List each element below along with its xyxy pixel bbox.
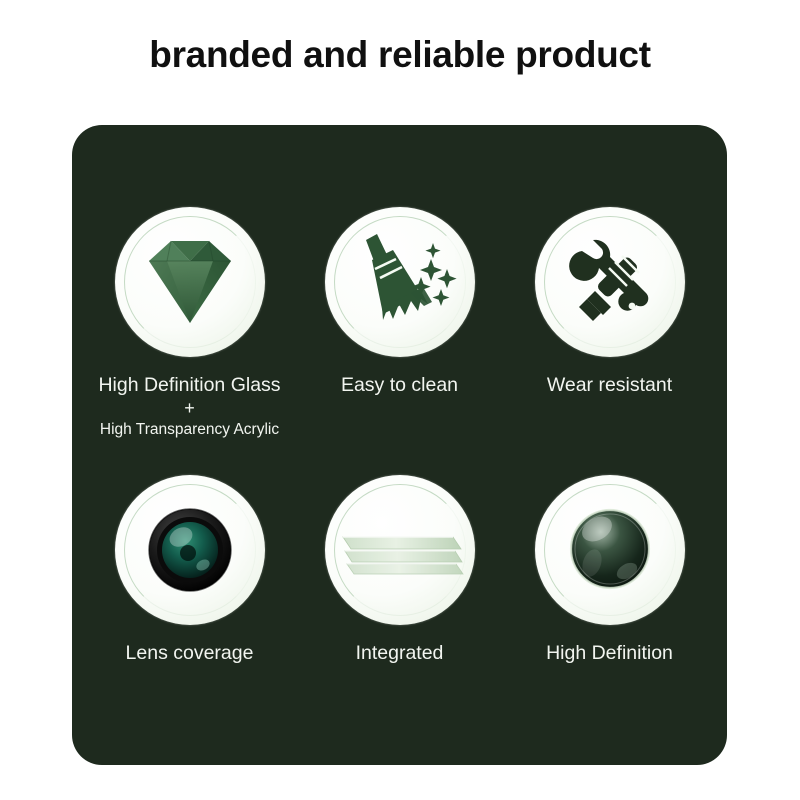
feature-label: Wear resistant <box>512 374 707 397</box>
feature-label-line1: High Definition Glass <box>98 374 280 396</box>
feature-icon-circle <box>325 207 475 357</box>
feature-label: High Definition Glass + High Transparenc… <box>92 374 287 439</box>
feature-label: High Definition <box>512 642 707 665</box>
feature-label: Lens coverage <box>92 642 287 665</box>
feature-label-line1: Wear resistant <box>547 374 672 396</box>
feature-card-lens-coverage[interactable]: Lens coverage <box>92 475 287 665</box>
feature-icon-circle <box>115 475 265 625</box>
features-grid: High Definition Glass + High Transparenc… <box>72 125 727 765</box>
feature-label-line1: Easy to clean <box>341 374 458 396</box>
features-panel: High Definition Glass + High Transparenc… <box>72 125 727 765</box>
feature-label-line1: Lens coverage <box>126 642 254 664</box>
broom-sparkle-icon <box>325 207 475 357</box>
feature-card-high-definition[interactable]: High Definition <box>512 475 707 665</box>
feature-label-line3: High Transparency Acrylic <box>92 420 287 439</box>
diamond-icon <box>115 207 265 357</box>
feature-card-integrated[interactable]: Integrated <box>302 475 497 665</box>
feature-icon-circle <box>115 207 265 357</box>
feature-label-line2: + <box>92 397 287 420</box>
feature-label: Integrated <box>302 642 497 665</box>
feature-label-line1: High Definition <box>546 642 673 664</box>
feature-label: Easy to clean <box>302 374 497 397</box>
wrench-screwdriver-icon <box>535 207 685 357</box>
stacked-glass-layers-icon <box>325 475 475 625</box>
feature-card-easy-to-clean[interactable]: Easy to clean <box>302 207 497 397</box>
camera-lens-icon <box>115 475 265 625</box>
glass-dome-icon <box>535 475 685 625</box>
feature-card-wear-resistant[interactable]: Wear resistant <box>512 207 707 397</box>
feature-icon-circle <box>535 475 685 625</box>
feature-label-line1: Integrated <box>356 642 444 664</box>
feature-card-high-definition-glass[interactable]: High Definition Glass + High Transparenc… <box>92 207 287 439</box>
feature-icon-circle <box>325 475 475 625</box>
feature-icon-circle <box>535 207 685 357</box>
page-title: branded and reliable product <box>0 34 800 76</box>
